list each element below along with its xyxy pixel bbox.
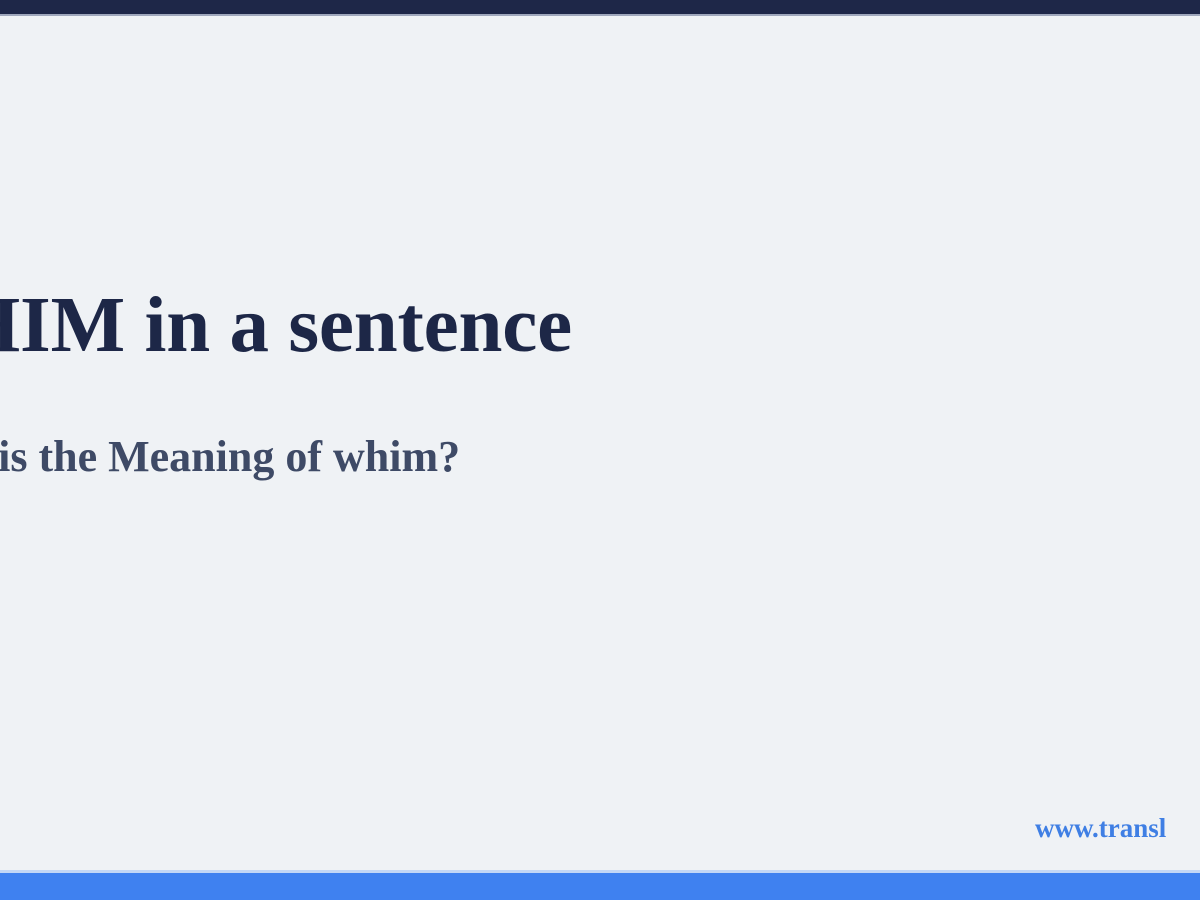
bottom-accent-bar (0, 873, 1200, 900)
slide-content: WHIM in a sentence What is the Meaning o… (0, 0, 1200, 900)
watermark-url: www.transl (1035, 812, 1166, 844)
slide-canvas: WHIM in a sentence What is the Meaning o… (0, 0, 1200, 900)
page-title: WHIM in a sentence (0, 286, 1200, 367)
page-subtitle: What is the Meaning of whim? (0, 434, 1200, 480)
